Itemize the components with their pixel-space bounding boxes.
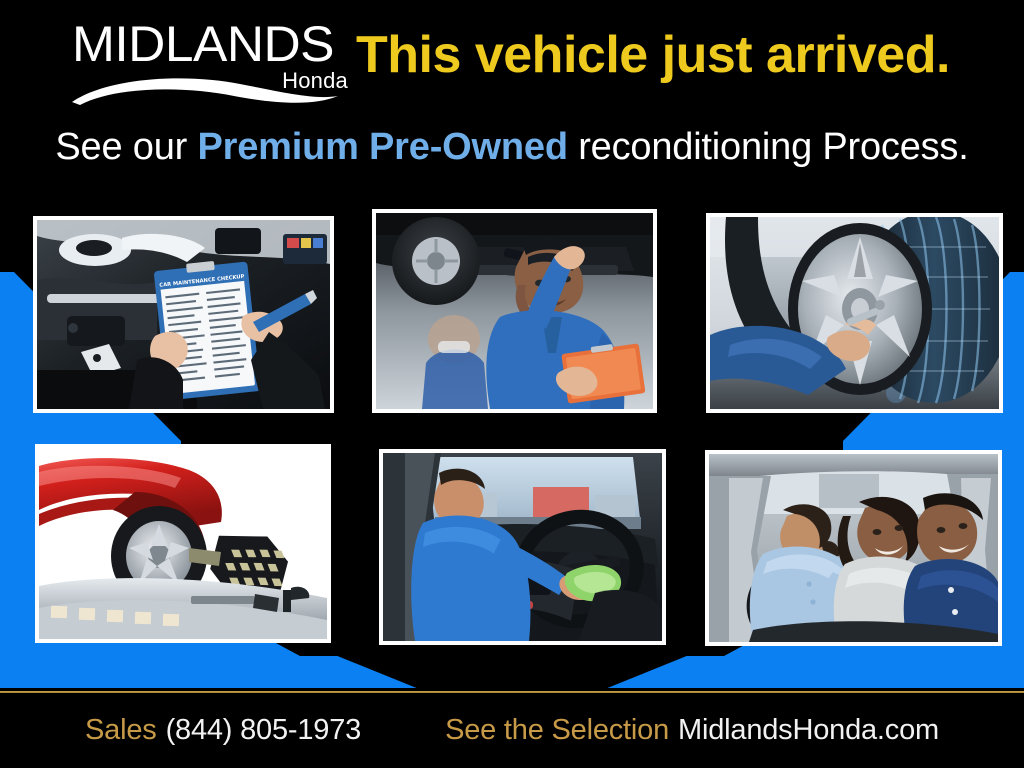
subheadline-text: See our Premium Pre-Owned reconditioning… xyxy=(0,126,1024,169)
subheadline-before: See our xyxy=(55,126,197,168)
swoosh-icon xyxy=(70,72,340,106)
photo-card-wheel-tire-service xyxy=(706,213,1003,413)
photo-customer-delivery xyxy=(709,454,998,642)
photo-card-interior-detailing xyxy=(379,449,666,645)
sales-phone-number[interactable]: (844) 805-1973 xyxy=(166,714,362,747)
selection-website-group: See the Selection MidlandsHonda.com xyxy=(445,714,939,747)
photo-alignment-rack xyxy=(39,448,327,639)
see-the-selection-label: See the Selection xyxy=(445,714,669,747)
sales-label: Sales xyxy=(85,714,157,747)
logo-wordmark: MIDLANDS xyxy=(72,18,334,70)
photo-wheel-tire-service xyxy=(710,217,999,409)
subheadline-accent: Premium Pre-Owned xyxy=(197,126,567,168)
photo-card-inspection-checklist: CAR MAINTENANCE CHECKUP xyxy=(33,216,334,413)
banner-footer: Sales (844) 805-1973 See the Selection M… xyxy=(0,694,1024,768)
photo-card-alignment-rack xyxy=(35,444,331,643)
website-link[interactable]: MidlandsHonda.com xyxy=(678,714,939,747)
photo-inspection-checklist: CAR MAINTENANCE CHECKUP xyxy=(37,220,330,409)
midlands-honda-logo: MIDLANDS Honda xyxy=(72,18,350,104)
sales-phone-group: Sales (844) 805-1973 xyxy=(85,714,361,747)
banner-header: MIDLANDS Honda This vehicle just arrived… xyxy=(0,0,1024,196)
subheadline-after: reconditioning Process. xyxy=(568,126,969,168)
advertisement-banner: CAR MAINTENANCE CHECKUP xyxy=(0,0,1024,768)
photo-card-customer-delivery xyxy=(705,450,1002,646)
footer-contact-row: Sales (844) 805-1973 See the Selection M… xyxy=(0,714,1024,747)
photo-card-undercarriage-inspection xyxy=(372,209,657,413)
headline-text: This vehicle just arrived. xyxy=(356,26,950,84)
photo-interior-detailing xyxy=(383,453,662,641)
photo-undercarriage-inspection xyxy=(376,213,653,409)
